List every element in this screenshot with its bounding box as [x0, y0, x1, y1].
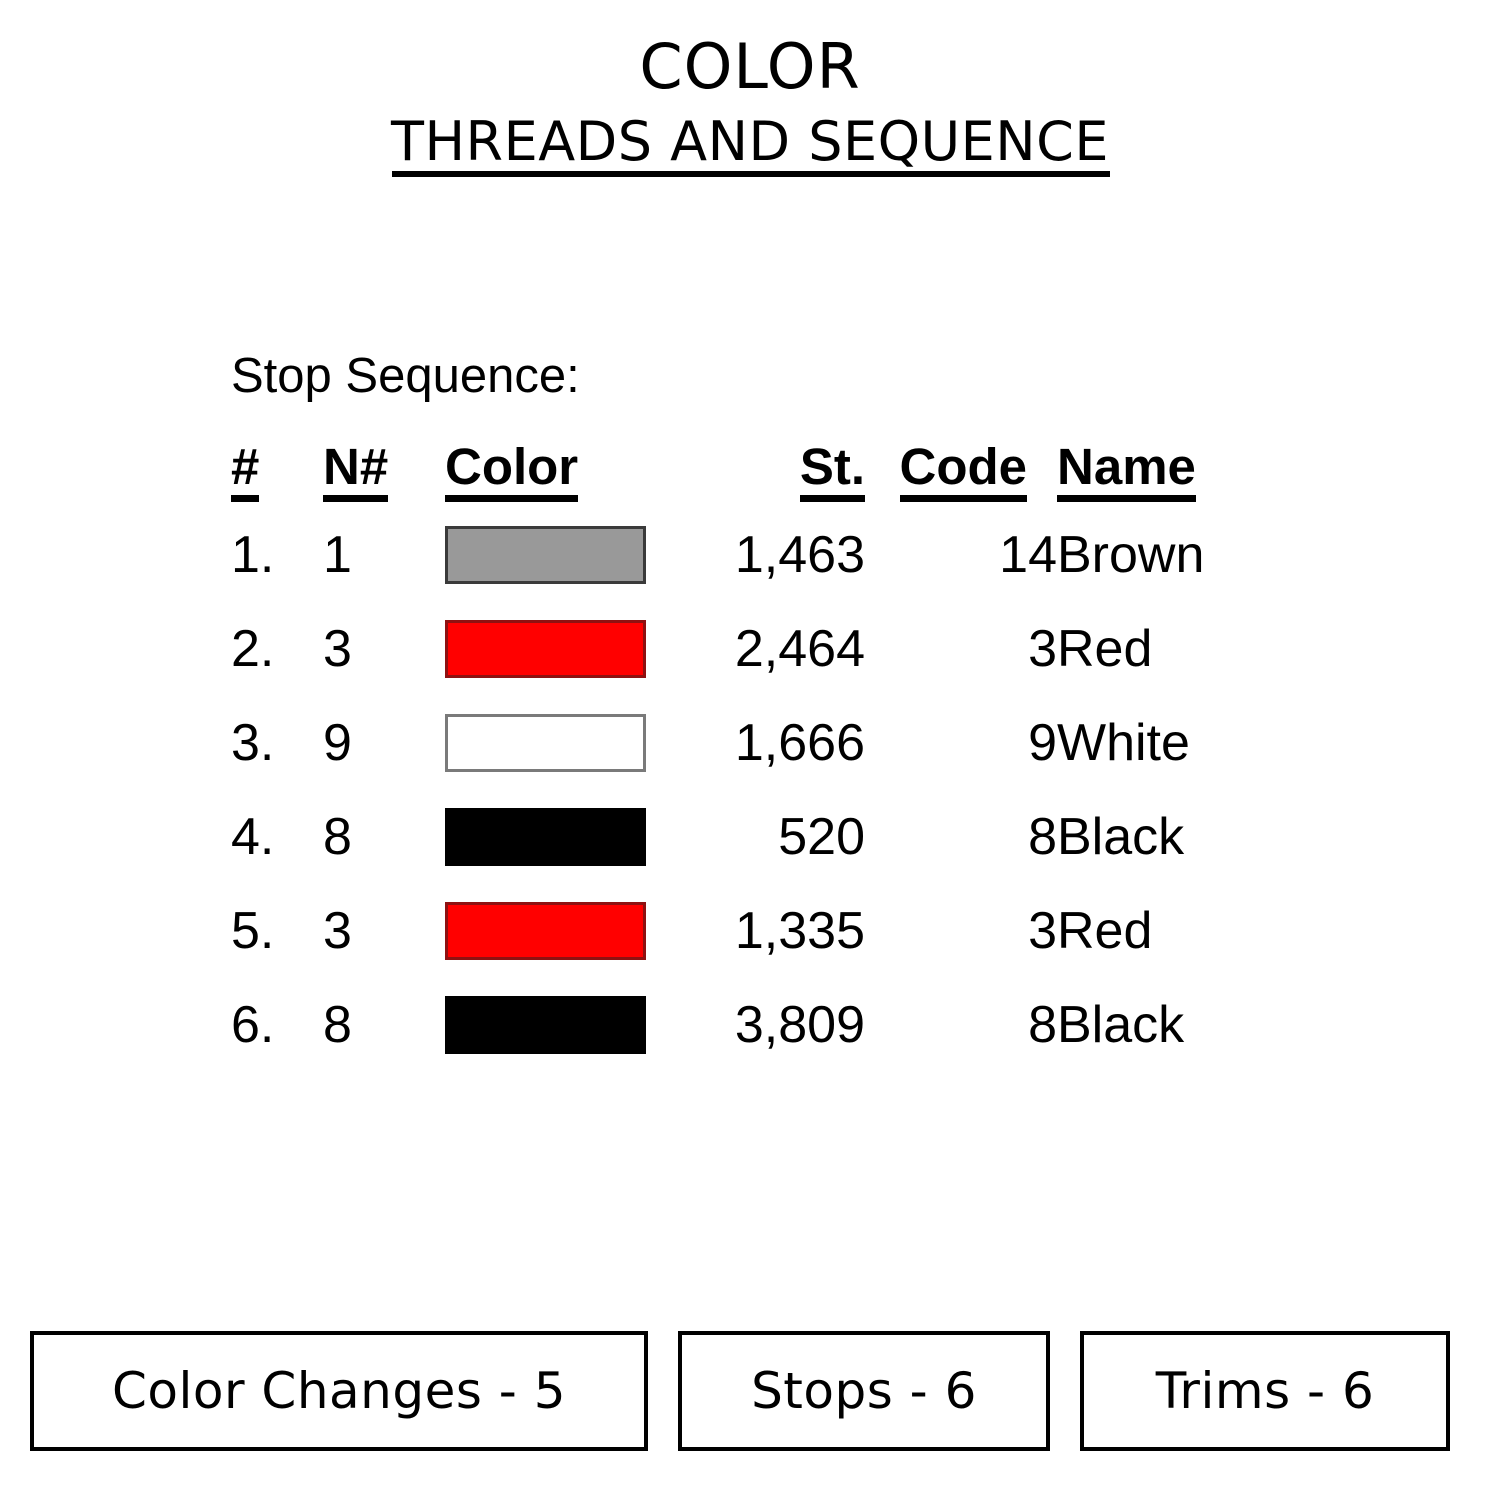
column-header-needle: N#: [323, 440, 445, 508]
cell-stitches: 1,463: [677, 508, 865, 602]
cell-needle: 8: [323, 978, 445, 1072]
column-header-code: Code: [865, 440, 1057, 508]
cell-color: [445, 790, 677, 884]
cell-name: Black: [1057, 790, 1204, 884]
document-title-block: COLOR THREADS AND SEQUENCE: [0, 36, 1500, 174]
cell-stitches: 3,809: [677, 978, 865, 1072]
column-header-name: Name: [1057, 440, 1204, 508]
summary-boxes: Color Changes - 5Stops - 6Trims - 6: [30, 1331, 1455, 1451]
cell-name: Red: [1057, 884, 1204, 978]
table-row: 3.91,6669White: [231, 696, 1204, 790]
cell-needle: 1: [323, 508, 445, 602]
summary-box-label: Color Changes - 5: [112, 1362, 566, 1420]
summary-box-1: Stops - 6: [678, 1331, 1050, 1451]
cell-needle: 9: [323, 696, 445, 790]
thread-color-swatch: [445, 620, 646, 678]
cell-index: 4.: [231, 790, 323, 884]
table-row: 4.85208Black: [231, 790, 1204, 884]
table-row: 2.32,4643Red: [231, 602, 1204, 696]
table-row: 6.83,8098Black: [231, 978, 1204, 1072]
cell-index: 2.: [231, 602, 323, 696]
cell-code: 14: [865, 508, 1057, 602]
column-header-stitches: St.: [677, 440, 865, 508]
thread-color-swatch: [445, 714, 646, 772]
page-subtitle: THREADS AND SEQUENCE: [0, 110, 1500, 174]
table-body: 1.11,46314Brown2.32,4643Red3.91,6669Whit…: [231, 508, 1204, 1072]
cell-name: White: [1057, 696, 1204, 790]
cell-color: [445, 978, 677, 1072]
cell-needle: 3: [323, 884, 445, 978]
thread-color-swatch: [445, 526, 646, 584]
stop-sequence-label: Stop Sequence:: [231, 348, 580, 404]
cell-code: 3: [865, 884, 1057, 978]
summary-box-0: Color Changes - 5: [30, 1331, 648, 1451]
cell-name: Brown: [1057, 508, 1204, 602]
cell-stitches: 1,666: [677, 696, 865, 790]
title-divider: [392, 171, 1110, 177]
stop-sequence-table: # N# Color St. Code Name 1.11,46314Brown…: [231, 440, 1204, 1072]
cell-code: 8: [865, 978, 1057, 1072]
cell-needle: 8: [323, 790, 445, 884]
table-header: # N# Color St. Code Name: [231, 440, 1204, 508]
cell-color: [445, 696, 677, 790]
page-title: COLOR: [0, 36, 1500, 98]
cell-name: Red: [1057, 602, 1204, 696]
thread-color-swatch: [445, 902, 646, 960]
cell-index: 3.: [231, 696, 323, 790]
cell-stitches: 1,335: [677, 884, 865, 978]
cell-needle: 3: [323, 602, 445, 696]
thread-color-swatch: [445, 996, 646, 1054]
cell-stitches: 2,464: [677, 602, 865, 696]
summary-box-2: Trims - 6: [1080, 1331, 1450, 1451]
cell-code: 9: [865, 696, 1057, 790]
summary-box-label: Trims - 6: [1156, 1362, 1375, 1420]
table-header-row: # N# Color St. Code Name: [231, 440, 1204, 508]
column-header-index: #: [231, 440, 323, 508]
column-header-color: Color: [445, 440, 677, 508]
cell-color: [445, 884, 677, 978]
cell-stitches: 520: [677, 790, 865, 884]
cell-color: [445, 508, 677, 602]
cell-index: 1.: [231, 508, 323, 602]
table-row: 5.31,3353Red: [231, 884, 1204, 978]
table-row: 1.11,46314Brown: [231, 508, 1204, 602]
cell-index: 5.: [231, 884, 323, 978]
cell-code: 3: [865, 602, 1057, 696]
cell-name: Black: [1057, 978, 1204, 1072]
cell-color: [445, 602, 677, 696]
color-threads-sequence-sheet: COLOR THREADS AND SEQUENCE Stop Sequence…: [0, 0, 1500, 1500]
thread-color-swatch: [445, 808, 646, 866]
cell-index: 6.: [231, 978, 323, 1072]
summary-box-label: Stops - 6: [751, 1362, 977, 1420]
cell-code: 8: [865, 790, 1057, 884]
